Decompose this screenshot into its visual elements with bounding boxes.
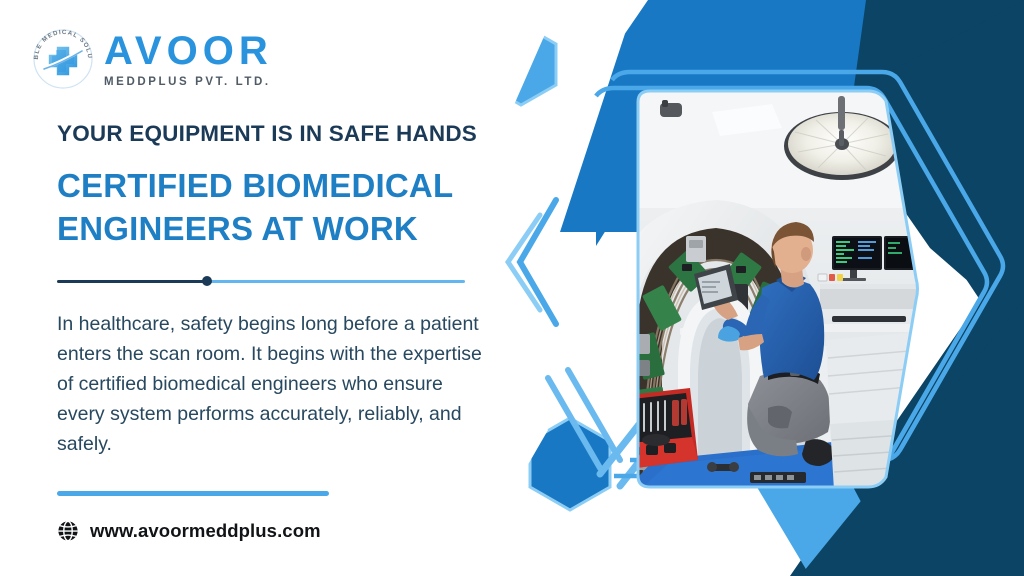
website-link[interactable]: www.avoormeddplus.com xyxy=(57,520,329,542)
red-tool-case xyxy=(620,388,698,470)
body-paragraph: In healthcare, safety begins long before… xyxy=(57,309,489,459)
headline-line-2: ENGINEERS AT WORK xyxy=(57,207,517,251)
hero-photo-hexagon xyxy=(620,88,920,490)
website-url: www.avoormeddplus.com xyxy=(90,520,321,542)
logo-wordmark: AVOOR MEDDPLUS PVT. LTD. xyxy=(104,29,273,89)
promotional-banner: RELIABLE MEDICAL SOLUTIONS AVOOR MEDDPLU… xyxy=(0,0,1024,576)
brand-logo[interactable]: RELIABLE MEDICAL SOLUTIONS AVOOR MEDDPLU… xyxy=(28,24,273,94)
footer-accent-rule xyxy=(57,491,329,496)
divider xyxy=(57,276,465,286)
headline: CERTIFIED BIOMEDICAL ENGINEERS AT WORK xyxy=(57,164,517,251)
control-monitors xyxy=(818,236,920,332)
copy-block: YOUR EQUIPMENT IS IN SAFE HANDS CERTIFIE… xyxy=(57,122,517,459)
eyebrow-text: YOUR EQUIPMENT IS IN SAFE HANDS xyxy=(57,122,517,147)
globe-icon xyxy=(57,520,79,542)
logo-emblem: RELIABLE MEDICAL SOLUTIONS xyxy=(28,24,98,94)
logo-subtitle: MEDDPLUS PVT. LTD. xyxy=(104,77,273,89)
divider-segment-dark xyxy=(57,280,207,283)
footer: www.avoormeddplus.com xyxy=(57,491,329,542)
logo-name: AVOOR xyxy=(104,31,273,71)
medical-cross-icon xyxy=(44,46,82,76)
divider-segment-light xyxy=(207,280,465,283)
headline-line-1: CERTIFIED BIOMEDICAL xyxy=(57,164,517,208)
divider-dot xyxy=(202,276,212,286)
